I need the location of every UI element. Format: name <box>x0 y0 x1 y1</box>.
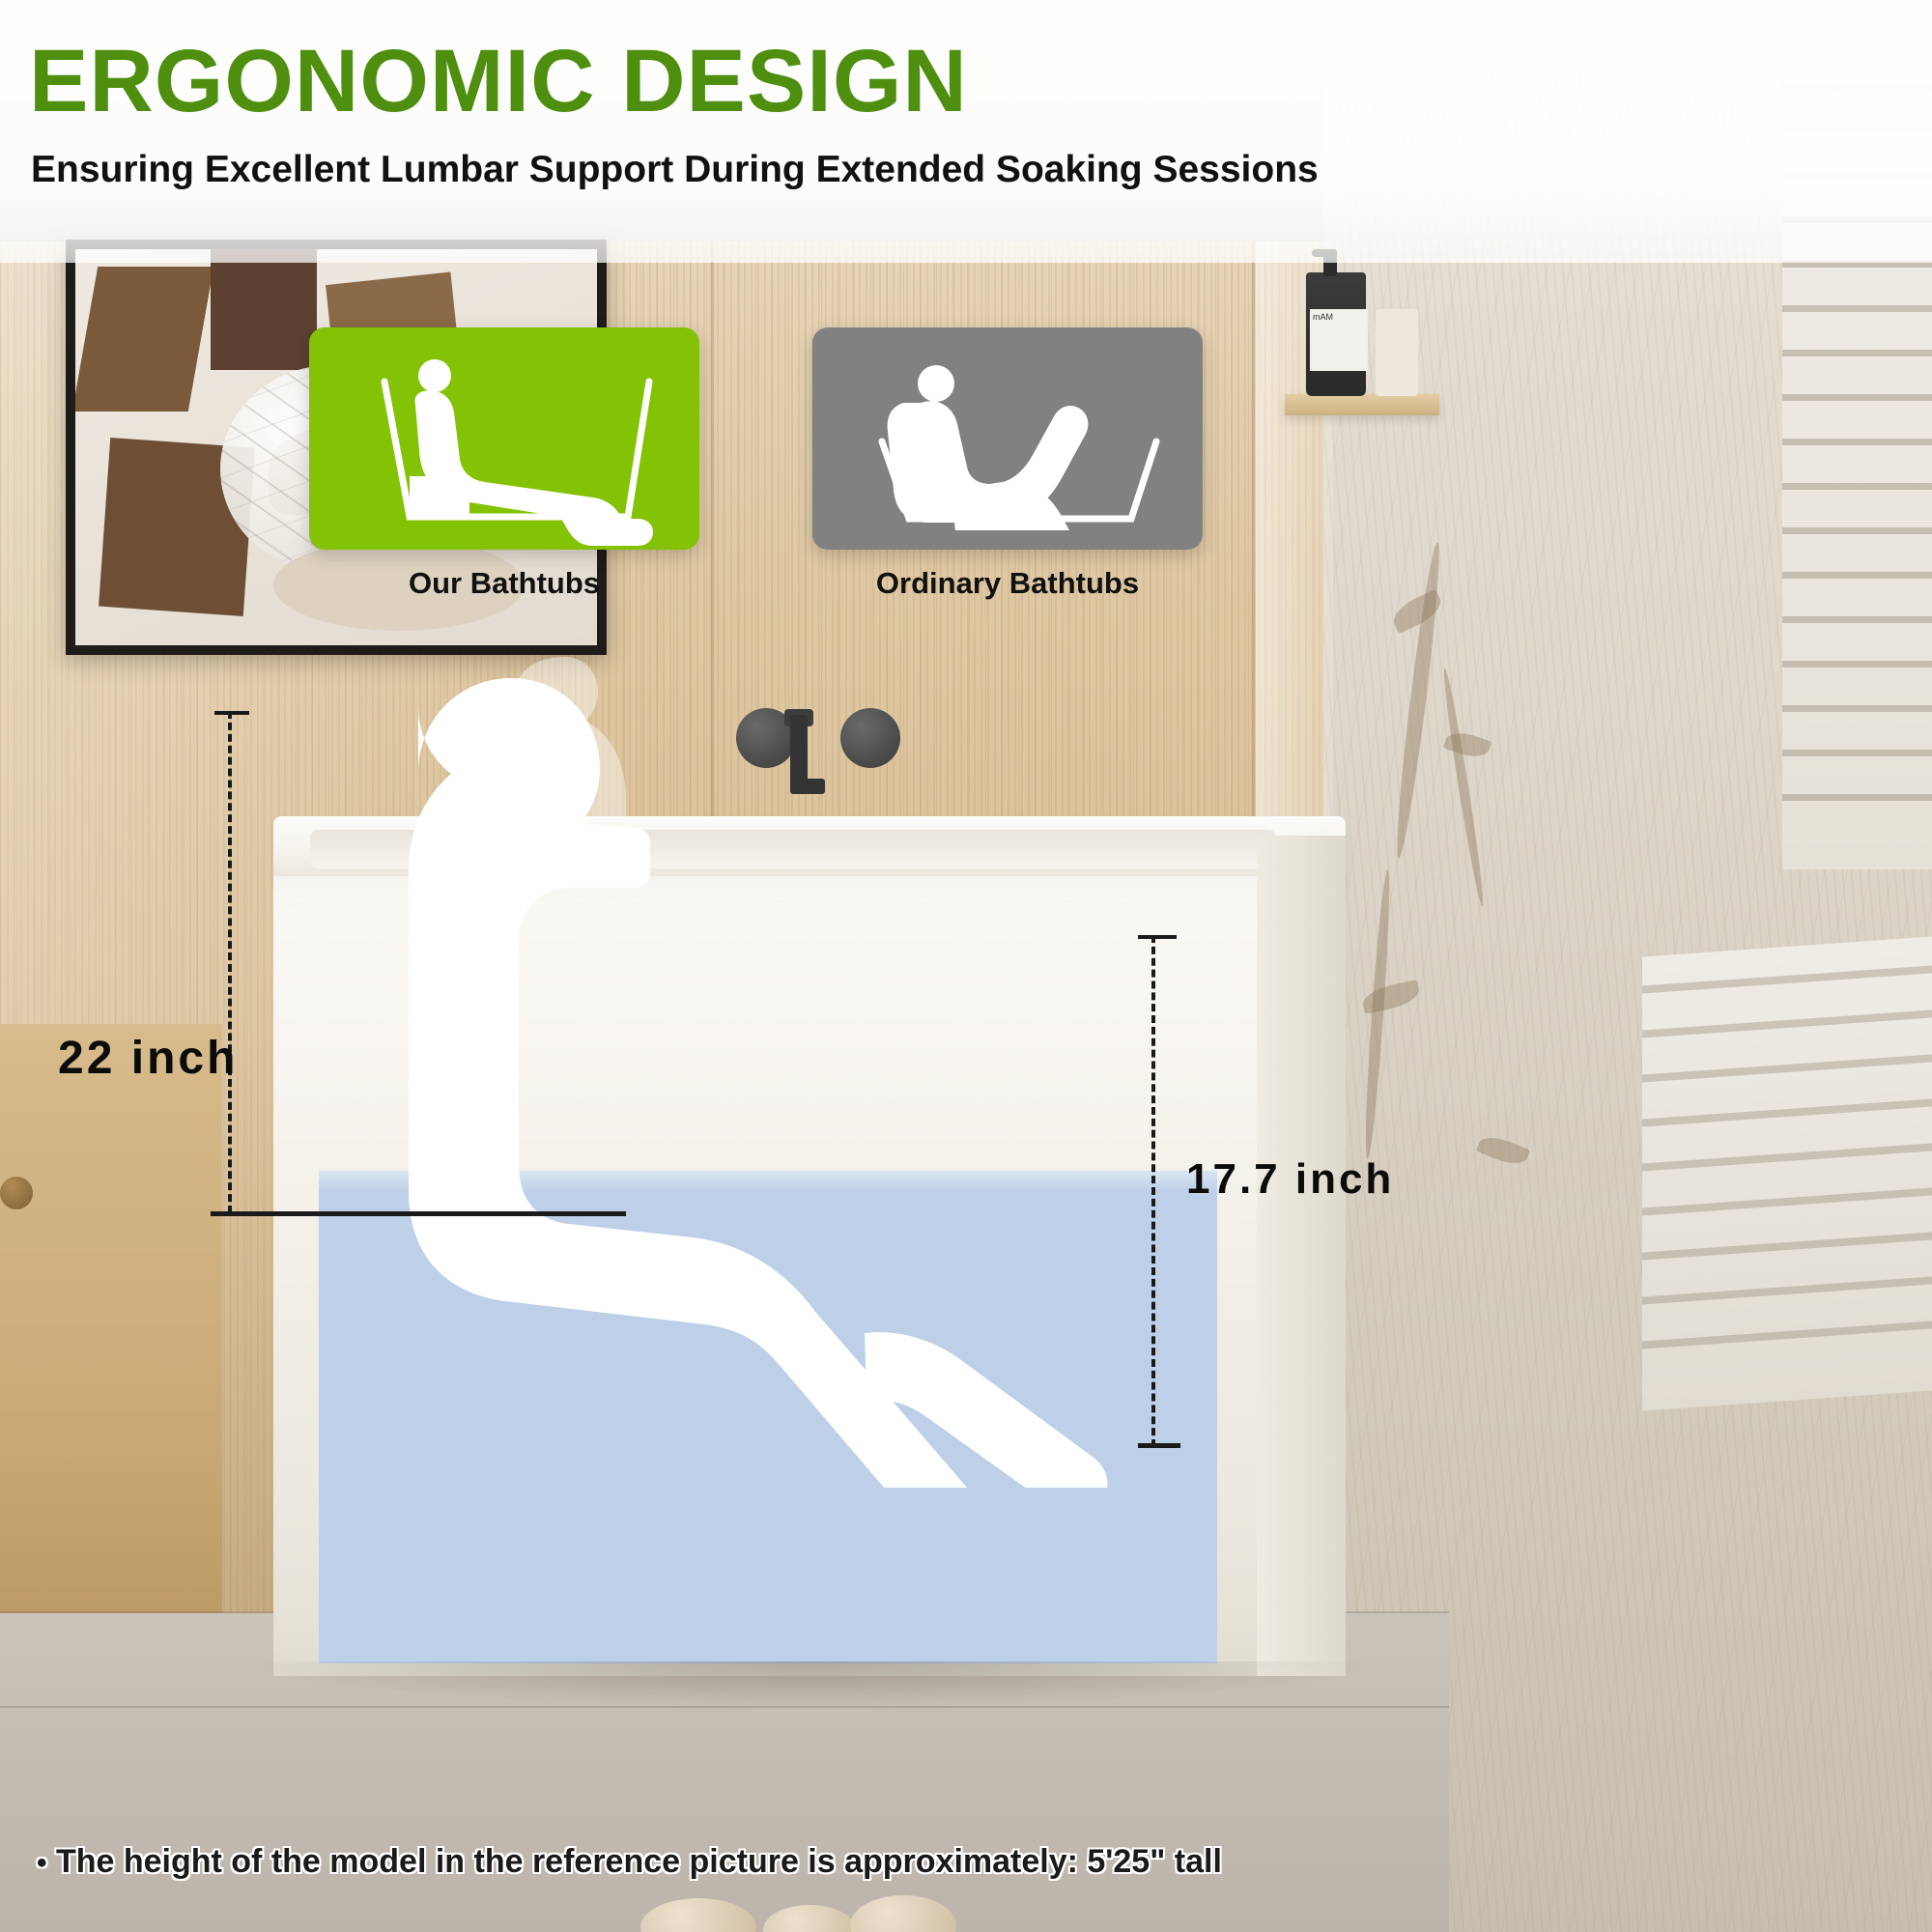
comparison-card-ordinary[interactable] <box>812 327 1203 550</box>
height-dimension-label: 22 inch <box>58 1032 238 1085</box>
secondary-bottle <box>1376 309 1418 396</box>
comparison-label-ours: Our Bathtubs <box>309 566 699 601</box>
comparison-card-ours[interactable] <box>309 327 699 550</box>
footnote-bullet-icon: • <box>37 1847 47 1879</box>
seated-person-silhouette <box>273 657 1239 1488</box>
height-dimension-tick-bottom <box>211 1211 626 1216</box>
page-subtitle: Ensuring Excellent Lumbar Support During… <box>31 145 1325 195</box>
seated-upright-person-in-tub-icon <box>309 327 699 550</box>
water-depth-dimension-line <box>1151 935 1155 1447</box>
bathtub-right-face <box>1257 836 1346 1676</box>
window-blinds-lower <box>1642 937 1932 1411</box>
page-title: ERGONOMIC DESIGN <box>29 37 968 126</box>
floor-tile-line <box>0 1706 1449 1708</box>
water-depth-tick-top <box>1138 935 1177 939</box>
height-dimension-tick-top <box>214 711 249 715</box>
wood-cabinet <box>0 1024 222 1623</box>
water-depth-label: 17.7 inch <box>1186 1155 1394 1204</box>
cabinet-knob-icon <box>0 1177 33 1209</box>
reclined-person-in-tub-icon <box>812 327 1203 550</box>
footnote: • The height of the model in the referen… <box>37 1843 1486 1881</box>
bathtub-floor-shadow <box>251 1662 1372 1706</box>
height-dimension-line <box>228 711 232 1213</box>
header-banner: ERGONOMIC DESIGN Ensuring Excellent Lumb… <box>0 0 1932 263</box>
footnote-text: The height of the model in the reference… <box>56 1843 1222 1880</box>
bathroom-shelf <box>1285 394 1439 415</box>
bottle-label: mAM <box>1310 309 1368 371</box>
infographic-canvas: mAM ERGONOMIC DESIGN Ensuring <box>0 0 1932 1932</box>
comparison-label-ordinary: Ordinary Bathtubs <box>812 566 1203 601</box>
water-depth-tick-bottom <box>1138 1443 1180 1448</box>
